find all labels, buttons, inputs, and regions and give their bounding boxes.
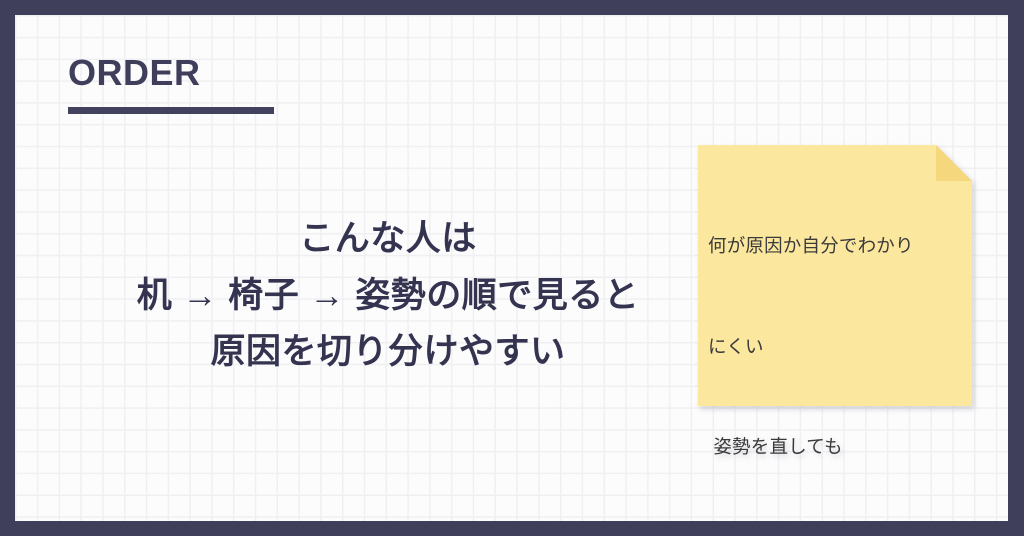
sticky-note-line-2: にくい [708,330,966,364]
sticky-note: 何が原因か自分でわかり にくい 姿勢を直しても 戻りやすい 座るたびに肩が 重く… [698,145,972,406]
main-text-line-3: 原因を切り分けやすい [51,324,725,381]
main-text-line-1: こんな人は [51,211,725,268]
slide-canvas: ORDER こんな人は 机 → 椅子 → 姿勢の順で見ると 原因を切り分けやすい… [15,15,1008,521]
sticky-note-line-1: 何が原因か自分でわかり [708,229,966,263]
title-underline [68,107,274,114]
page-title: ORDER [68,54,274,92]
main-text-line-2: 机 → 椅子 → 姿勢の順で見ると [51,268,725,325]
sticky-note-text: 何が原因か自分でわかり にくい 姿勢を直しても 戻りやすい 座るたびに肩が 重く… [708,162,966,521]
slide-frame: ORDER こんな人は 机 → 椅子 → 姿勢の順で見ると 原因を切り分けやすい… [0,0,1024,536]
main-text-block: こんな人は 机 → 椅子 → 姿勢の順で見ると 原因を切り分けやすい [51,211,725,381]
sticky-note-line-3: 姿勢を直しても [708,430,966,464]
title-block: ORDER [68,54,274,114]
